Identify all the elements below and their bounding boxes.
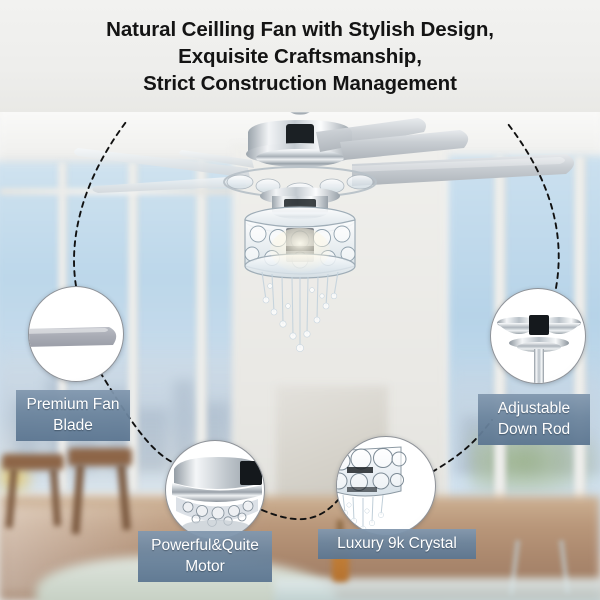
fan-blade-detail (29, 287, 124, 382)
callout-adjustable-down-rod[interactable] (490, 288, 586, 384)
motor-housing-detail (166, 441, 265, 540)
label-luxury-9k-crystal: Luxury 9k Crystal (318, 529, 476, 559)
label-powerful-quite-motor: Powerful&Quite Motor (138, 531, 272, 582)
crystal-shade-detail (337, 437, 436, 536)
down-rod-detail (491, 289, 586, 384)
label-adjustable-down-rod: Adjustable Down Rod (478, 394, 590, 445)
leader-line-motor-to-crystal (262, 500, 338, 519)
callout-luxury-9k-crystal[interactable] (336, 436, 436, 536)
leader-line-blade (74, 122, 126, 286)
leader-line-rod (508, 124, 559, 288)
title-band: Natural Ceilling Fan with Stylish Design… (0, 0, 600, 112)
page-title: Natural Ceilling Fan with Stylish Design… (0, 16, 600, 97)
callout-powerful-quite-motor[interactable] (165, 440, 265, 540)
product-infographic: Premium Fan Blade (0, 0, 600, 600)
callout-premium-fan-blade[interactable] (28, 286, 124, 382)
label-premium-fan-blade: Premium Fan Blade (16, 390, 130, 441)
